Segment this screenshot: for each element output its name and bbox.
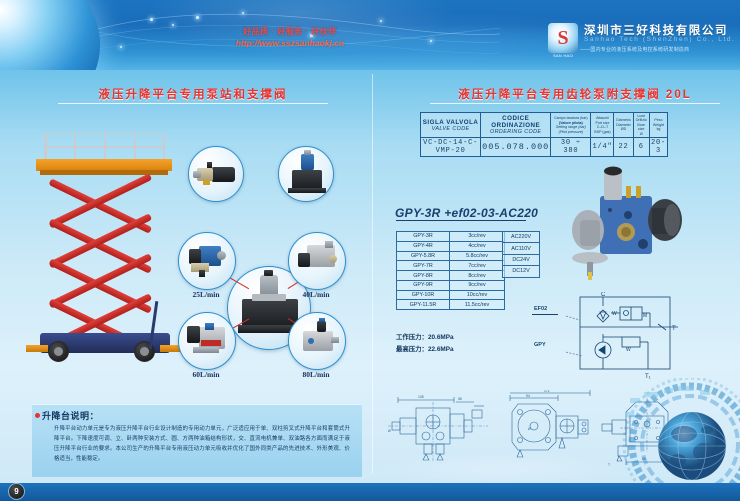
cell-displacement: 8cc/rev [450, 271, 505, 281]
right-title-rule [430, 103, 720, 104]
ef02-underline [532, 314, 558, 315]
table-row: VC-DC-14-C-VMP-20 005.078.000 30 ÷ 380 1… [421, 138, 668, 157]
watermark-sweep [380, 440, 740, 486]
product-photo-hydraulic-valve-block[interactable] [560, 158, 690, 283]
svg-text:171: 171 [544, 390, 550, 393]
svg-text:W: W [626, 347, 631, 353]
sparkle-dot [120, 46, 122, 48]
product-label-25: 25L/min [172, 290, 240, 299]
cell-model: GPY-10R [397, 290, 450, 300]
cell-voltage: AC220V [503, 232, 540, 243]
cell-valve-code: VC-DC-14-C-VMP-20 [421, 138, 481, 157]
table-row: GPY-11.5R11.5cc/rev [397, 300, 505, 310]
product-photo-valve-block-25[interactable] [178, 232, 236, 290]
cell-displacement: 5.8cc/rev [450, 251, 505, 261]
lift-description-box: 升降台说明： 升降平台动力单元是专为液压升降平台行业设计制造的专用动力单元，广泛… [32, 404, 362, 477]
product-label-80: 80L/min [282, 370, 350, 379]
table-row: AC110V [503, 243, 540, 254]
cell-voltage: DC12V [503, 266, 540, 277]
cell-model: GPY-3R [397, 232, 450, 242]
cell-setting-range: 30 ÷ 380 [551, 138, 591, 157]
circuit-label-gpy: GPY [534, 342, 546, 348]
left-title-rule [58, 103, 328, 104]
cell-model: GPY-7R [397, 261, 450, 271]
svg-text:94: 94 [526, 394, 530, 398]
table-row: GPY-8R8cc/rev [397, 271, 505, 281]
product-photo-pump-motor-horizontal[interactable] [188, 146, 244, 202]
cell-voltage: AC110V [503, 243, 540, 254]
sparkle-dot [150, 18, 153, 21]
cell-model: GPY-11.5R [397, 300, 450, 310]
cell-bore-size: 6 [633, 138, 649, 157]
sparkle-dot [196, 16, 199, 19]
product-photo-valve-block-80[interactable] [288, 312, 346, 370]
working-pressure: 工作压力：20.6MPa [396, 332, 454, 344]
svg-text:56: 56 [458, 397, 462, 401]
catalog-page: 好品质 · 好服务 · 好伙伴 http://www.sszsanhaokj.c… [0, 0, 740, 501]
svg-text:M: M [643, 313, 647, 319]
table-row: GPY-7R7cc/rev [397, 261, 505, 271]
product-photo-power-unit-vertical[interactable] [278, 146, 334, 202]
description-body: 升降平台动力单元是专为液压升降平台行业设计制造的专用动力单元，广泛适应用于单、双… [54, 424, 350, 464]
header-slogan: 好品质 · 好服务 · 好伙伴 [210, 26, 370, 37]
lift-outrigger [26, 345, 48, 352]
header-port-size: Attacchi Port size C–D–T BSP (gas) [591, 113, 614, 138]
cell-model: GPY-8R [397, 271, 450, 281]
page-footer [0, 483, 740, 501]
header-ordering-code: CODICE ORDINAZIONE ORDERING CODE [481, 113, 551, 138]
cell-port-size: 1/4" [591, 138, 614, 157]
cell-diameter: 22 [614, 138, 633, 157]
svg-text:Ø: Ø [388, 429, 391, 433]
svg-text:W: W [612, 311, 617, 317]
table-row: DC12V [503, 266, 540, 277]
page-number-badge: 9 [8, 483, 25, 500]
pressure-specs: 工作压力：20.6MPa 最高压力：22.6MPa [396, 332, 454, 356]
cell-model: GPY-9R [397, 280, 450, 290]
cell-ordering-code: 005.078.000 [481, 138, 551, 157]
svg-text:T: T [672, 326, 676, 332]
cell-displacement: 7cc/rev [450, 261, 505, 271]
table-row: GPY-3R3cc/rev [397, 232, 505, 242]
table-row: GPY-4R4cc/rev [397, 241, 505, 251]
product-photo-valve-block-60[interactable] [178, 312, 236, 370]
table-row: GPY-9R9cc/rev [397, 280, 505, 290]
page-header: 好品质 · 好服务 · 好伙伴 http://www.sszsanhaokj.c… [0, 0, 740, 70]
table-row: DC24V [503, 254, 540, 265]
cell-displacement: 3cc/rev [450, 232, 505, 242]
sparkle-dot [172, 24, 174, 26]
page-spine-divider [372, 74, 373, 474]
header-weight: Peso Weight kg [649, 113, 667, 138]
scissor-lift-platform-image [30, 133, 180, 368]
right-panel-title: 液压升降平台专用齿轮泵附支撑阀 20L [430, 86, 720, 102]
header-bore-size: Luce Orifizio Bore size Ø [633, 113, 649, 138]
gpy-displacement-table: GPY-3R3cc/rev GPY-4R4cc/rev GPY-5.8R5.8c… [396, 231, 505, 310]
gpy-model-title: GPY-3R +ef02-03-AC220 [395, 206, 538, 220]
table-row: GPY-5.8R5.8cc/rev [397, 251, 505, 261]
valve-block-illustration [560, 158, 690, 283]
company-logo-icon: S [548, 23, 578, 53]
sparkle-dot [380, 20, 382, 22]
header-setting-range: Campo taratura (bar) (Valore pilota) Set… [551, 113, 591, 138]
logo-caption: SAN HAO [548, 53, 578, 58]
left-panel-title: 液压升降平台专用泵站和支撑阀 [58, 86, 328, 102]
cell-weight: 20-3 [649, 138, 667, 157]
table-row: AC220V [503, 232, 540, 243]
svg-text:135: 135 [418, 395, 424, 399]
cell-model: GPY-4R [397, 241, 450, 251]
hydraulic-circuit-diagram: C T T₁ W W M EF02 GPY [548, 292, 728, 384]
cell-displacement: 9cc/rev [450, 280, 505, 290]
table-header-row: SIGLA VALVOLA VALVE CODE CODICE ORDINAZI… [421, 113, 668, 138]
circuit-schematic: C T T₁ W W M [548, 292, 728, 384]
lift-wheel [48, 341, 69, 362]
cell-displacement: 11.5cc/rev [450, 300, 505, 310]
gpy-title-underline [396, 220, 526, 221]
company-branding: S SAN HAO 深圳市三好科技有限公司 Sanhao Tech (ShenZ… [548, 22, 736, 62]
header-diameter: Diametro Diameter ØD [614, 113, 633, 138]
table-row: GPY-10R10cc/rev [397, 290, 505, 300]
cell-displacement: 10cc/rev [450, 290, 505, 300]
cell-model: GPY-5.8R [397, 251, 450, 261]
header-website-url[interactable]: http://www.sszsanhaokj.cn [205, 38, 375, 48]
gpy-voltage-table: AC220V AC110V DC24V DC12V [502, 231, 540, 278]
cell-voltage: DC24V [503, 254, 540, 265]
description-heading: 升降台说明： [42, 409, 99, 422]
header-valve-code: SIGLA VALVOLA VALVE CODE [421, 113, 481, 138]
company-tagline: ——国内专业的液压系统及电控系统研发制造商 [580, 46, 689, 53]
logo-letter: S [557, 28, 568, 48]
company-name-en: Sanhao Tech (ShenZhen) Co., Ltd. [584, 36, 736, 43]
bullet-icon [35, 413, 40, 418]
lift-guardrail [44, 133, 164, 159]
product-label-60: 60L/min [172, 370, 240, 379]
valve-code-table: SIGLA VALVOLA VALVE CODE CODICE ORDINAZI… [420, 112, 668, 157]
max-pressure: 最高压力：22.6MPa [396, 344, 454, 356]
circuit-label-ef02: EF02 [534, 306, 547, 312]
sparkle-dot [430, 40, 432, 42]
cell-displacement: 4cc/rev [450, 241, 505, 251]
sparkle-dot [242, 12, 244, 14]
product-photo-valve-block-40[interactable] [288, 232, 346, 290]
svg-text:C: C [601, 292, 606, 298]
scissor-arms [48, 176, 160, 336]
product-label-40: 40L/min [282, 290, 350, 299]
